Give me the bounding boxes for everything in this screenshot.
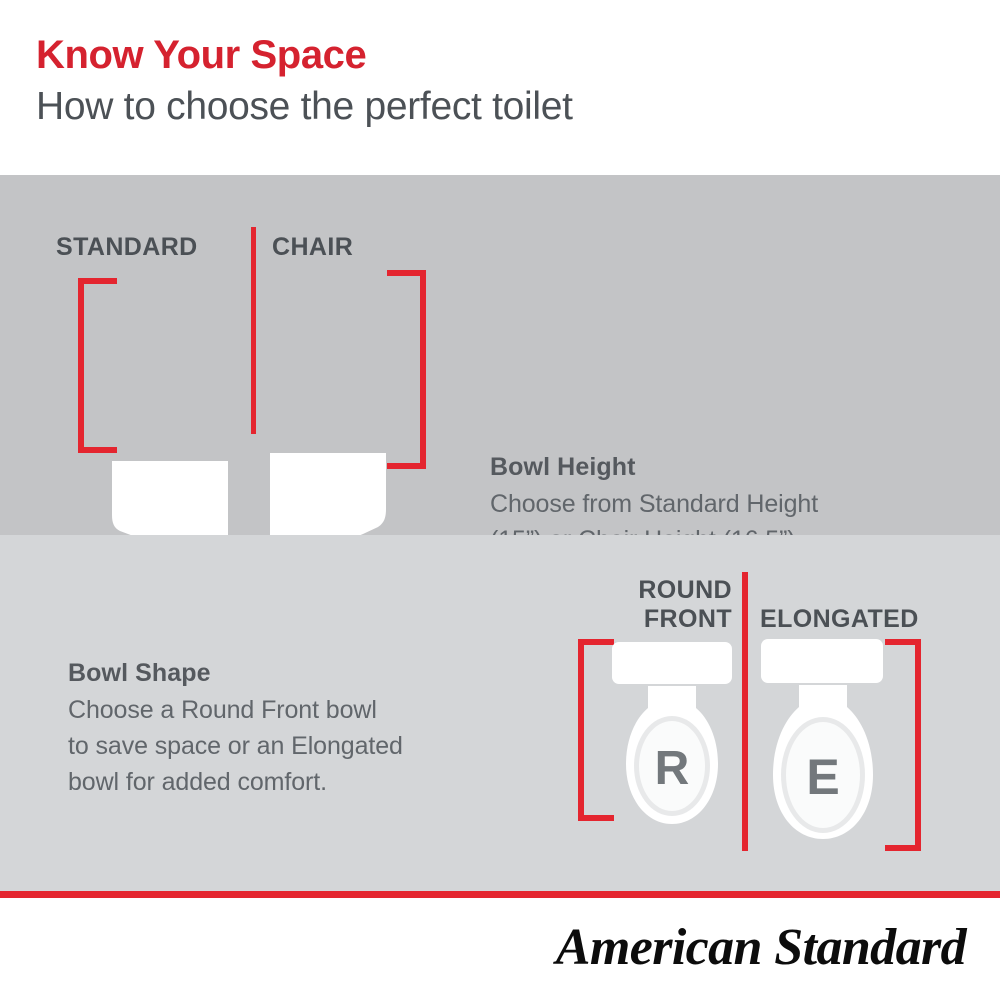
page-subtitle: How to choose the perfect toilet (36, 85, 573, 129)
vertical-divider-shape (742, 572, 748, 851)
description-body-bowl-shape: Choose a Round Front bowl to save space … (68, 692, 548, 800)
measure-bracket-chair (387, 270, 426, 469)
bowl-letter-elongated: E (806, 749, 839, 805)
measure-bracket-elongated (885, 639, 921, 851)
description-line: Choose a Round Front bowl (68, 692, 548, 728)
label-chair: CHAIR (272, 233, 353, 262)
description-title-bowl-height: Bowl Height (490, 453, 960, 482)
label-standard: STANDARD (56, 233, 198, 262)
description-line: bowl for added comfort. (68, 764, 548, 800)
section-bowl-shape: Bowl Shape Choose a Round Front bowl to … (0, 535, 1000, 891)
section-bowl-height: STANDARD CHAIR 15” 16.5” Bowl Height Cho… (0, 175, 1000, 535)
label-round-front: ROUND FRONT (556, 576, 732, 634)
header: Know Your Space How to choose the perfec… (0, 0, 1000, 175)
toilet-topview-elongated-icon: E (757, 639, 887, 851)
infographic-page: Know Your Space How to choose the perfec… (0, 0, 1000, 1000)
description-line: Choose from Standard Height (490, 486, 960, 522)
description-title-bowl-shape: Bowl Shape (68, 659, 548, 688)
footer-accent-bar (0, 891, 1000, 898)
toilet-topview-round-front-icon: R (608, 642, 736, 847)
label-round-front-line1: ROUND (556, 576, 732, 605)
bowl-letter-round: R (655, 742, 690, 795)
vertical-divider-height (251, 227, 256, 434)
description-bowl-shape: Bowl Shape Choose a Round Front bowl to … (68, 659, 548, 800)
footer: American Standard (0, 898, 1000, 1000)
label-elongated: ELONGATED (760, 605, 919, 634)
label-round-front-line2: FRONT (556, 605, 732, 634)
page-title: Know Your Space (36, 33, 366, 78)
brand-logo: American Standard (556, 918, 966, 977)
measure-bracket-standard (78, 278, 117, 453)
description-line: to save space or an Elongated (68, 728, 548, 764)
